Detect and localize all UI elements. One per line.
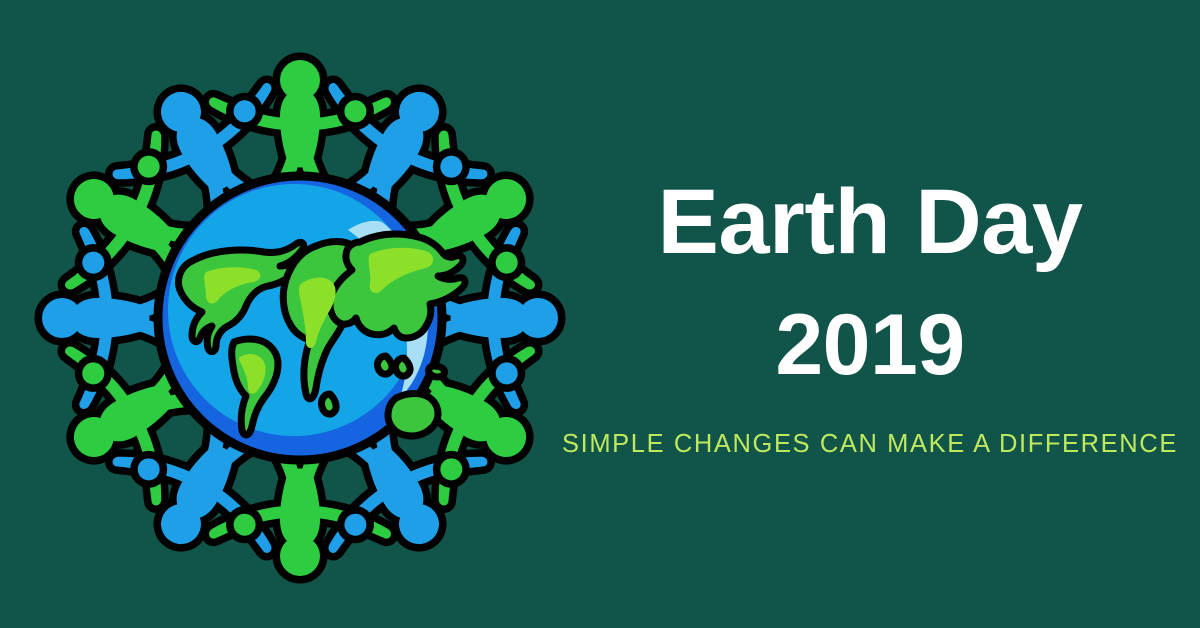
tagline: SIMPLE CHANGES CAN MAKE A DIFFERENCE <box>540 432 1200 458</box>
earth-day-poster: Earth Day 2019 SIMPLE CHANGES CAN MAKE A… <box>0 0 1200 628</box>
text-block: Earth Day 2019 SIMPLE CHANGES CAN MAKE A… <box>540 0 1200 628</box>
page-title: Earth Day <box>540 176 1200 268</box>
people-ring-around-earth-illustration <box>30 46 570 586</box>
page-title-year: 2019 <box>540 302 1200 388</box>
earth-globe <box>158 176 465 460</box>
